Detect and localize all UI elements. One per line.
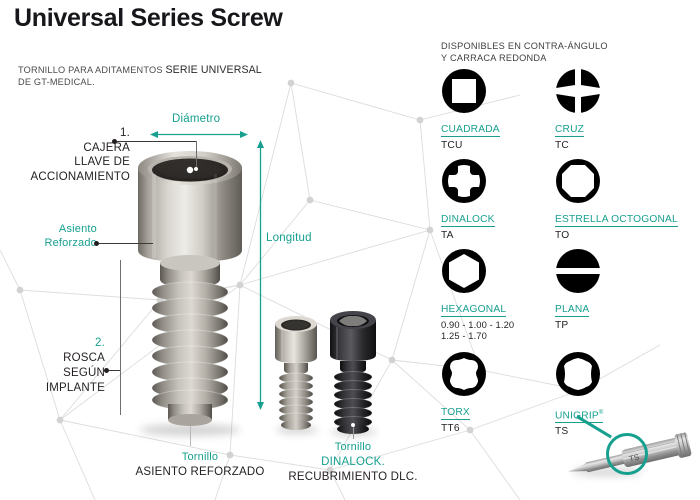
callout-cajera-line2: LLAVE DE <box>74 156 130 168</box>
driver-label-hexagonal: HEXAGONAL <box>441 304 506 317</box>
subtitle-line2: DE GT-MEDICAL. <box>18 77 95 87</box>
callout-rosca-line2: SEGÚN <box>63 367 105 379</box>
hexagonal-socket-icon <box>441 248 487 294</box>
dinalock-socket-icon <box>441 158 487 204</box>
driver-code-dinalock: TA <box>441 230 559 242</box>
callout-rosca-dot <box>104 368 109 373</box>
dark-screw-leader-dot <box>351 423 355 427</box>
callout-asiento-leader <box>98 243 153 244</box>
registered-trademark-icon: ® <box>599 410 604 416</box>
callout-cajera: 1. CAJERA LLAVE DE ACCIONAMIENTO <box>20 126 130 184</box>
driver-cell-estrella-octogonal[interactable]: ESTRELLA OCTOGONAL TO <box>555 158 691 242</box>
driver-cell-unigrip[interactable]: UNIGRIP® TS <box>555 351 673 438</box>
driver-cell-dinalock[interactable]: DINALOCK TA <box>441 158 559 242</box>
caption-dark-screw: Tornillo DINALOCK. RECUBRIMIENTO DLC. <box>288 439 418 484</box>
driver-code-estrella-octogonal: TO <box>555 230 691 242</box>
callout-cajera-leader-v <box>196 141 197 170</box>
driver-code-cuadrada: TCU <box>441 140 559 152</box>
caption-main-screw-line2: ASIENTO REFORZADO <box>135 466 264 478</box>
dimension-label-diametro: Diámetro <box>172 113 220 125</box>
callout-rosca-line1: ROSCA <box>63 352 105 364</box>
page-title: Universal Series Screw <box>14 4 283 33</box>
square-socket-icon <box>441 68 487 114</box>
cajera-target-dot <box>194 167 198 171</box>
caption-dark-screw-line3: RECUBRIMIENTO DLC. <box>288 471 417 483</box>
caption-main-screw: Tornillo ASIENTO REFORZADO <box>120 449 280 479</box>
driver-label-estrella-octogonal: ESTRELLA OCTOGONAL <box>555 214 678 227</box>
driver-cell-cuadrada[interactable]: CUADRADA TCU <box>441 68 559 152</box>
driver-cell-cruz[interactable]: CRUZ TC <box>555 68 673 152</box>
driver-label-torx: TORX <box>441 407 470 420</box>
panel-header-line1: DISPONIBLES EN CONTRA-ÁNGULO <box>441 41 608 51</box>
callout-asiento-line2: Reforzado <box>44 237 97 249</box>
driver-label-dinalock: DINALOCK <box>441 214 495 227</box>
driver-label-cuadrada: CUADRADA <box>441 124 500 137</box>
cross-socket-icon <box>555 68 601 114</box>
driver-code-plana: TP <box>555 320 673 332</box>
callout-rosca-leader <box>108 370 120 371</box>
callout-asiento: Asiento Reforzado <box>12 222 97 250</box>
octagonal-star-socket-icon <box>555 158 601 204</box>
driver-code-torx: TT6 <box>441 423 559 435</box>
rosca-bracket-line <box>120 260 121 415</box>
callout-cajera-line1: CAJERA <box>83 142 130 154</box>
panel-header: DISPONIBLES EN CONTRA-ÁNGULO Y CARRACA R… <box>441 41 608 64</box>
unigrip-socket-icon <box>555 351 601 397</box>
driver-cell-hexagonal[interactable]: HEXAGONAL 0.90 - 1.00 - 1.20 1.25 - 1.70 <box>441 248 559 341</box>
dimension-arrow-longitud <box>256 140 265 410</box>
callout-cajera-line3: ACCIONAMIENTO <box>30 171 130 183</box>
small-dark-screw-image <box>325 303 381 435</box>
caption-dark-screw-line2: DINALOCK. <box>321 456 385 468</box>
dimension-label-longitud: Longitud <box>266 232 312 244</box>
subtitle-line1: TORNILLO PARA ADITAMENTOS <box>18 65 163 75</box>
dimension-arrow-diametro <box>150 130 248 139</box>
caption-dark-screw-line1: Tornillo <box>335 441 371 453</box>
callout-asiento-dot <box>94 241 99 246</box>
driver-label-cruz: CRUZ <box>555 124 584 137</box>
caption-main-leader <box>190 426 191 446</box>
unigrip-highlight-circle <box>606 433 648 475</box>
flat-socket-icon <box>555 248 601 294</box>
callout-asiento-line1: Asiento <box>59 223 97 235</box>
infographic-canvas: Universal Series Screw TORNILLO PARA ADI… <box>0 0 700 500</box>
callout-rosca-number: 2. <box>95 337 105 349</box>
driver-cell-torx[interactable]: TORX TT6 <box>441 351 559 435</box>
torx-socket-icon <box>441 351 487 397</box>
driver-sizes-hexagonal: 0.90 - 1.00 - 1.20 1.25 - 1.70 <box>441 319 559 341</box>
driver-label-plana: PLANA <box>555 304 589 317</box>
main-screw-image <box>130 132 250 432</box>
callout-rosca: 2. ROSCA SEGÚN IMPLANTE <box>10 336 105 396</box>
caption-main-screw-line1: Tornillo <box>182 451 218 463</box>
callout-rosca-line3: IMPLANTE <box>46 382 105 394</box>
panel-header-line2: Y CARRACA REDONDA <box>441 53 547 63</box>
small-silver-screw-image <box>270 308 322 433</box>
subtitle-strong: SERIE UNIVERSAL <box>165 64 261 76</box>
callout-cajera-dot <box>112 139 117 144</box>
page-subtitle: TORNILLO PARA ADITAMENTOS SERIE UNIVERSA… <box>18 64 262 88</box>
callout-cajera-number: 1. <box>120 127 130 139</box>
driver-cell-plana[interactable]: PLANA TP <box>555 248 673 332</box>
driver-code-cruz: TC <box>555 140 673 152</box>
callout-cajera-leader-h <box>116 141 197 142</box>
